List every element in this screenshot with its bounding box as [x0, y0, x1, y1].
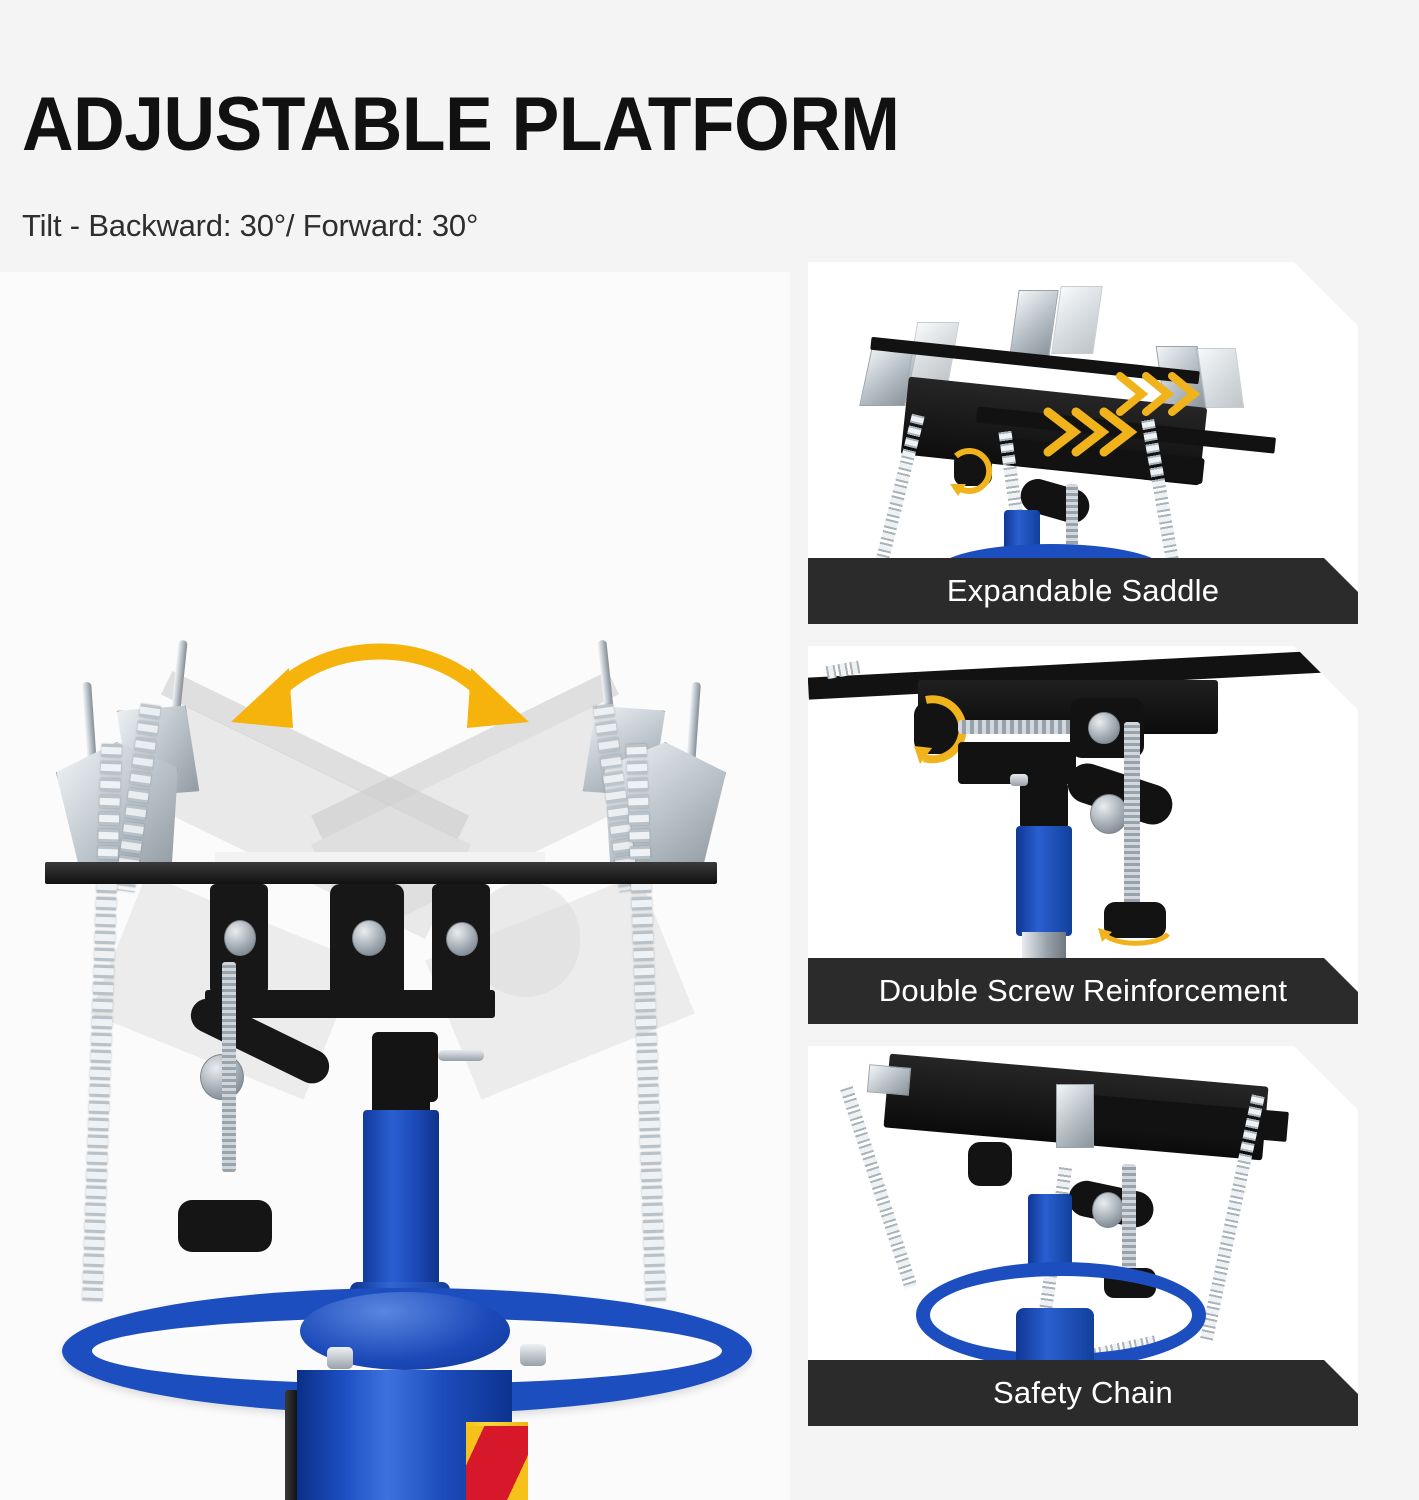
- panel3-bracket-mid: [1056, 1084, 1094, 1148]
- caption-text: Double Screw Reinforcement: [879, 973, 1287, 1009]
- pivot-bolt-left: [224, 920, 256, 956]
- rotation-arrow-icon-bottom: [1096, 922, 1176, 956]
- pivot-bolt-right: [446, 922, 478, 956]
- panel2-pivot-bolt: [1088, 712, 1120, 744]
- caption-text: Safety Chain: [993, 1375, 1173, 1411]
- hub-bolt-left: [327, 1347, 353, 1369]
- panel3-lock-knob: [968, 1142, 1012, 1186]
- undercarriage-plate: [205, 990, 495, 1018]
- panel3-pump-body: [1016, 1308, 1094, 1368]
- panel2-ram-blue: [1016, 826, 1072, 936]
- saddle-cross-bar: [45, 862, 717, 884]
- rotation-arrow-icon: [946, 444, 1004, 498]
- panel3-bracket-left: [867, 1064, 911, 1096]
- tilt-double-arrow-icon: [215, 624, 545, 744]
- hub-bolt-right: [520, 1344, 546, 1366]
- panel1-chain-left: [876, 413, 925, 562]
- saddle-bracket-ghost-mid: [1051, 286, 1103, 354]
- panel2-side-pin: [1010, 774, 1028, 786]
- infographic-stage: ADJUSTABLE PLATFORM Tilt - Backward: 30°…: [0, 0, 1419, 1500]
- feature-panel-expandable-saddle[interactable]: Expandable Saddle: [808, 262, 1358, 624]
- adjustment-screw: [222, 962, 236, 1172]
- hero-product-photo: [0, 272, 790, 1500]
- panel3-screw: [1122, 1164, 1136, 1274]
- caption-double-screw: Double Screw Reinforcement: [808, 958, 1358, 1024]
- caption-safety-chain: Safety Chain: [808, 1360, 1358, 1426]
- expand-chevrons-icon-2: [1114, 366, 1224, 422]
- caption-expandable-saddle: Expandable Saddle: [808, 558, 1358, 624]
- caption-text: Expandable Saddle: [947, 573, 1219, 609]
- tilt-adjust-knob: [352, 920, 386, 956]
- warning-label: [466, 1422, 528, 1500]
- screw-hand-knob: [178, 1200, 272, 1252]
- panel3-arm-bolt: [1092, 1192, 1124, 1228]
- page-title: ADJUSTABLE PLATFORM: [22, 86, 899, 164]
- warning-label-header: [466, 1426, 528, 1500]
- panel3-ram: [1028, 1194, 1072, 1270]
- panel2-arm-bolt: [1090, 794, 1128, 834]
- panel2-vertical-screw: [1124, 722, 1140, 908]
- locking-pin: [438, 1050, 484, 1061]
- page-subtitle: Tilt - Backward: 30°/ Forward: 30°: [22, 208, 478, 244]
- feature-panel-double-screw[interactable]: Double Screw Reinforcement: [808, 646, 1358, 1024]
- hydraulic-ram: [363, 1110, 439, 1310]
- panel2-horizontal-screw: [958, 720, 1088, 734]
- panel2-ram-collar: [1020, 782, 1068, 830]
- feature-panel-safety-chain[interactable]: Safety Chain: [808, 1046, 1358, 1426]
